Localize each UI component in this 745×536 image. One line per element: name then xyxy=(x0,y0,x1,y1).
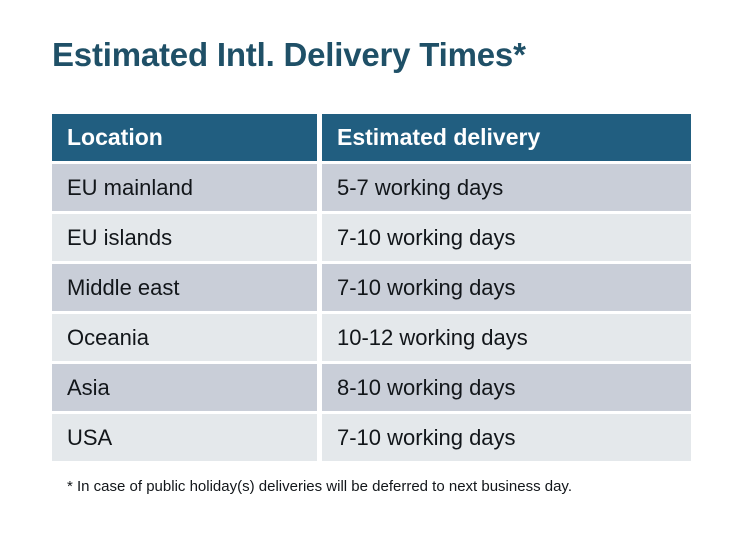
cell-estimated-delivery: 7-10 working days xyxy=(322,214,691,261)
cell-location: Asia xyxy=(52,364,317,411)
table-row: Middle east 7-10 working days xyxy=(52,264,691,311)
cell-estimated-delivery: 10-12 working days xyxy=(322,314,691,361)
cell-estimated-delivery: 5-7 working days xyxy=(322,164,691,211)
footnote-text: * In case of public holiday(s) deliverie… xyxy=(67,478,572,495)
cell-estimated-delivery: 7-10 working days xyxy=(322,414,691,461)
cell-location: EU mainland xyxy=(52,164,317,211)
table-row: Oceania 10-12 working days xyxy=(52,314,691,361)
table-row: Asia 8-10 working days xyxy=(52,364,691,411)
delivery-times-page: Estimated Intl. Delivery Times* Location… xyxy=(0,0,745,536)
delivery-times-table: Location Estimated delivery EU mainland … xyxy=(52,114,691,464)
cell-location: EU islands xyxy=(52,214,317,261)
cell-location: Middle east xyxy=(52,264,317,311)
cell-estimated-delivery: 8-10 working days xyxy=(322,364,691,411)
cell-estimated-delivery: 7-10 working days xyxy=(322,264,691,311)
table-row: USA 7-10 working days xyxy=(52,414,691,461)
cell-location: USA xyxy=(52,414,317,461)
table-row: EU islands 7-10 working days xyxy=(52,214,691,261)
cell-location: Oceania xyxy=(52,314,317,361)
column-header-location: Location xyxy=(52,114,317,161)
page-title: Estimated Intl. Delivery Times* xyxy=(52,36,526,74)
table-row: EU mainland 5-7 working days xyxy=(52,164,691,211)
column-header-estimated-delivery: Estimated delivery xyxy=(322,114,691,161)
table-header-row: Location Estimated delivery xyxy=(52,114,691,161)
